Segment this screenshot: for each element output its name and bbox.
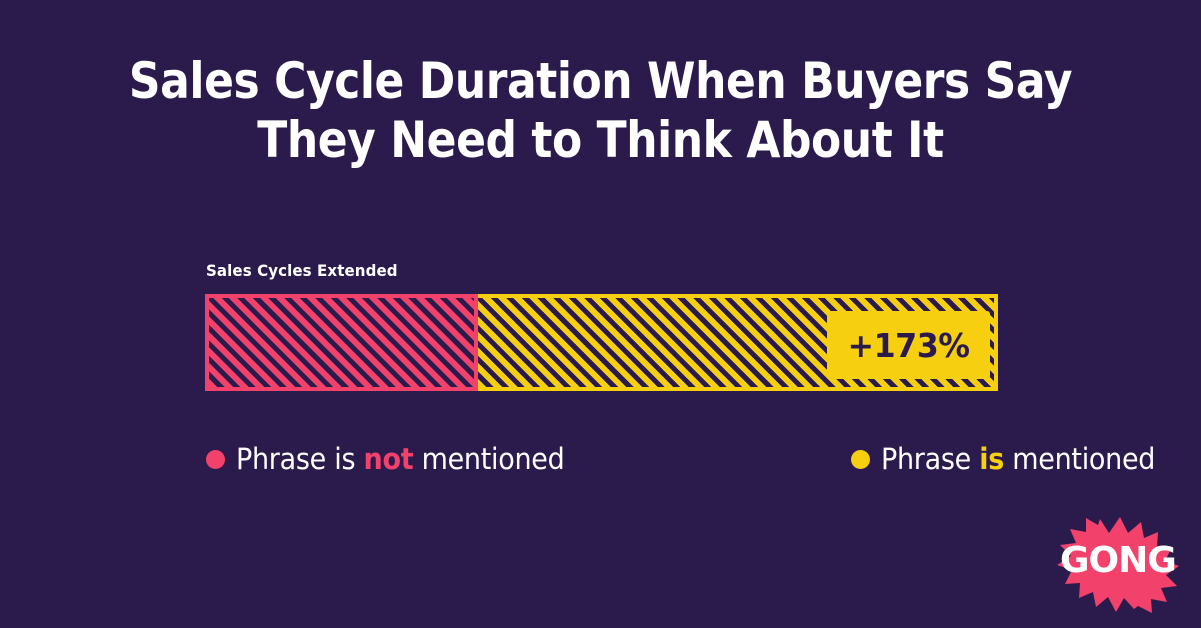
title-line-1: Sales Cycle Duration When Buyers Say bbox=[72, 52, 1129, 111]
legend-suffix-not-mentioned: mentioned bbox=[413, 442, 564, 476]
gong-logo: GONG bbox=[1048, 513, 1198, 613]
bar-axis-label: Sales Cycles Extended bbox=[206, 261, 398, 280]
chart-legend: Phrase is not mentioned Phrase is mentio… bbox=[206, 442, 1176, 476]
legend-dot-yellow-icon bbox=[851, 450, 870, 469]
gong-logo-text: GONG bbox=[1060, 541, 1201, 581]
bar-segment-is-mentioned: +173% bbox=[478, 294, 998, 391]
value-badge: +173% bbox=[827, 311, 990, 379]
bar-segment-not-mentioned bbox=[205, 294, 478, 391]
page-title: Sales Cycle Duration When Buyers Say The… bbox=[0, 52, 1201, 170]
legend-label-is-mentioned: Phrase is mentioned bbox=[881, 442, 1155, 476]
legend-emphasis-is: is bbox=[979, 442, 1004, 476]
legend-emphasis-not: not bbox=[364, 442, 414, 476]
infographic-canvas: Sales Cycle Duration When Buyers Say The… bbox=[0, 0, 1201, 628]
legend-prefix-is-mentioned: Phrase bbox=[881, 442, 979, 476]
legend-suffix-is-mentioned: mentioned bbox=[1004, 442, 1155, 476]
value-badge-label: +173% bbox=[847, 326, 969, 365]
legend-dot-pink-icon bbox=[206, 450, 225, 469]
legend-item-is-mentioned: Phrase is mentioned bbox=[851, 442, 1176, 476]
legend-prefix-not-mentioned: Phrase is bbox=[236, 442, 364, 476]
legend-item-not-mentioned: Phrase is not mentioned bbox=[206, 442, 589, 476]
stacked-bar: +173% bbox=[205, 294, 998, 391]
legend-label-not-mentioned: Phrase is not mentioned bbox=[236, 442, 564, 476]
title-line-2: They Need to Think About It bbox=[72, 111, 1129, 170]
